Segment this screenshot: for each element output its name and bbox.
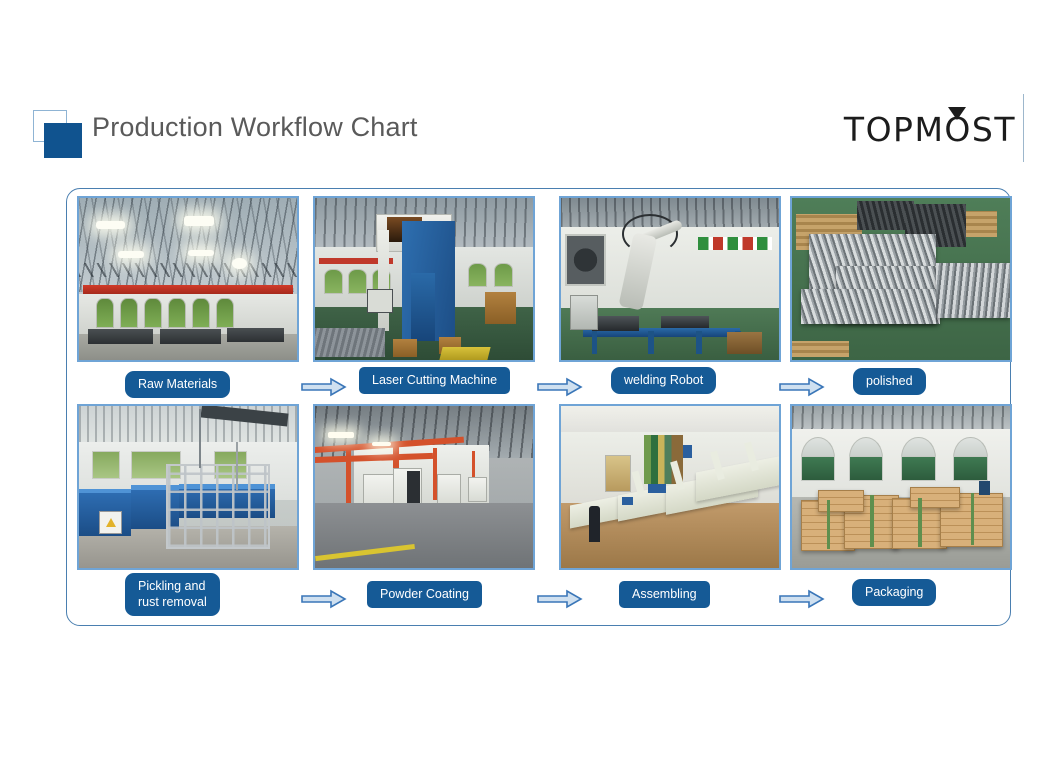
brand-logo: TOPMOST — [844, 98, 1016, 160]
flow-arrow-6 — [779, 589, 825, 614]
workflow-container: Raw Materials — [66, 188, 1011, 626]
flow-arrow-2 — [537, 377, 583, 402]
workflow-step-powder-coating[interactable]: Powder Coating — [313, 401, 535, 607]
photo-laser-cutting-machine — [313, 196, 535, 362]
brand-logo-text: TOPMOST — [844, 110, 1016, 149]
workflow-step-laser-cutting-machine[interactable]: Laser Cutting Machine — [313, 193, 535, 399]
photo-polished — [790, 196, 1012, 362]
step-label-raw-materials: Raw Materials — [125, 371, 230, 398]
page-title: Production Workflow Chart — [92, 112, 418, 143]
photo-raw-materials — [77, 196, 299, 362]
workflow-row-2: Pickling and rust removal — [67, 401, 1012, 607]
workflow-step-welding-robot[interactable]: welding Robot — [559, 193, 781, 399]
step-label-packaging: Packaging — [852, 579, 936, 606]
step-label-powder-coating: Powder Coating — [367, 581, 482, 608]
workflow-row-1: Raw Materials — [67, 193, 1012, 399]
photo-powder-coating — [313, 404, 535, 570]
flow-arrow-3 — [779, 377, 825, 402]
square-filled-shape — [44, 123, 82, 158]
workflow-step-raw-materials[interactable]: Raw Materials — [77, 193, 299, 399]
flow-arrow-5 — [537, 589, 583, 614]
logo-triangle-mark — [948, 107, 966, 120]
photo-pickling-rust-removal — [77, 404, 299, 570]
page-header: Production Workflow Chart TOPMOST — [0, 0, 1060, 178]
two-squares-icon — [33, 110, 83, 158]
photo-welding-robot — [559, 196, 781, 362]
flow-arrow-4 — [301, 589, 347, 614]
step-label-polished: polished — [853, 368, 926, 395]
workflow-step-assembling[interactable]: Assembling — [559, 401, 781, 607]
logo-divider — [1023, 94, 1024, 162]
workflow-step-pickling-rust-removal[interactable]: Pickling and rust removal — [77, 401, 299, 607]
step-label-laser-cutting-machine: Laser Cutting Machine — [359, 367, 510, 394]
workflow-step-packaging[interactable]: Packaging — [790, 401, 1012, 607]
step-label-welding-robot: welding Robot — [611, 367, 716, 394]
photo-assembling — [559, 404, 781, 570]
flow-arrow-1 — [301, 377, 347, 402]
step-label-pickling-rust-removal: Pickling and rust removal — [125, 573, 220, 616]
workflow-step-polished[interactable]: polished — [790, 193, 1012, 399]
photo-packaging — [790, 404, 1012, 570]
step-label-assembling: Assembling — [619, 581, 710, 608]
